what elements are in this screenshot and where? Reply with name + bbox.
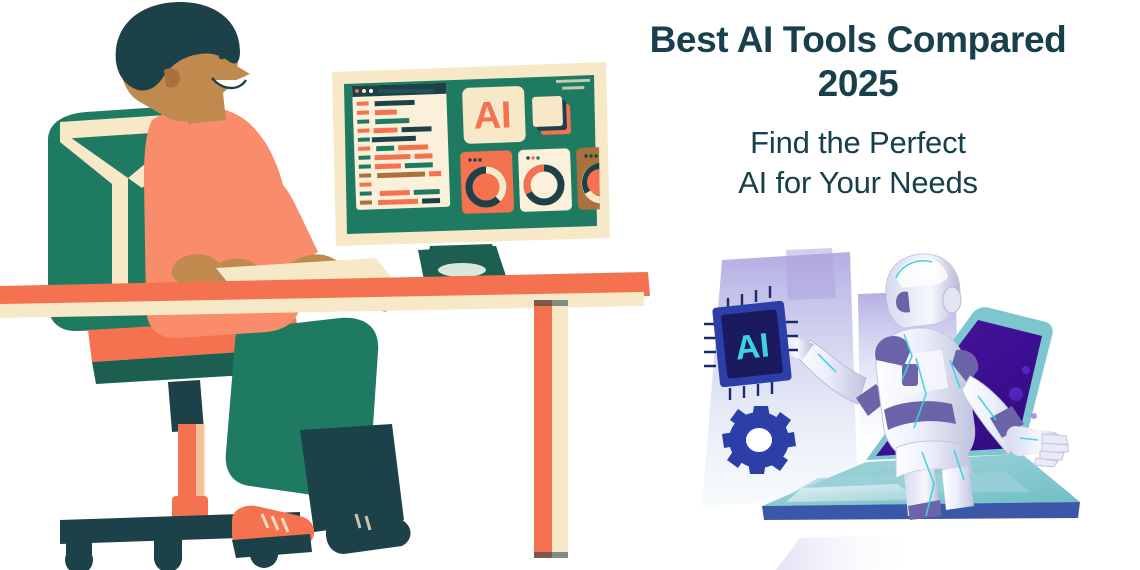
robot-laptop-illustration: AI [690, 248, 1140, 570]
man-at-desk-illustration: AI [0, 0, 660, 570]
svg-text:AI: AI [473, 94, 512, 137]
headline-line-1: Best AI Tools Compared [650, 19, 1067, 60]
stacked-squares [532, 96, 571, 135]
subhead-line-1: Find the Perfect [750, 125, 966, 160]
gear-icon [722, 406, 796, 474]
mouse-icon [418, 246, 506, 280]
text-block: Best AI Tools Compared 2025 Find the Per… [596, 18, 1120, 203]
svg-text:AI: AI [733, 326, 771, 367]
donut-card-2 [518, 148, 572, 212]
donut-card-1 [460, 150, 514, 214]
page-subtitle: Find the Perfect AI for Your Needs [596, 123, 1120, 202]
page-title: Best AI Tools Compared 2025 [596, 18, 1120, 105]
ai-card: AI [462, 86, 526, 144]
subhead-line-2: AI for Your Needs [738, 165, 978, 200]
headline-line-2: 2025 [818, 63, 899, 104]
monitor-icon: AI [332, 62, 630, 274]
banner-root: AI [0, 0, 1140, 570]
